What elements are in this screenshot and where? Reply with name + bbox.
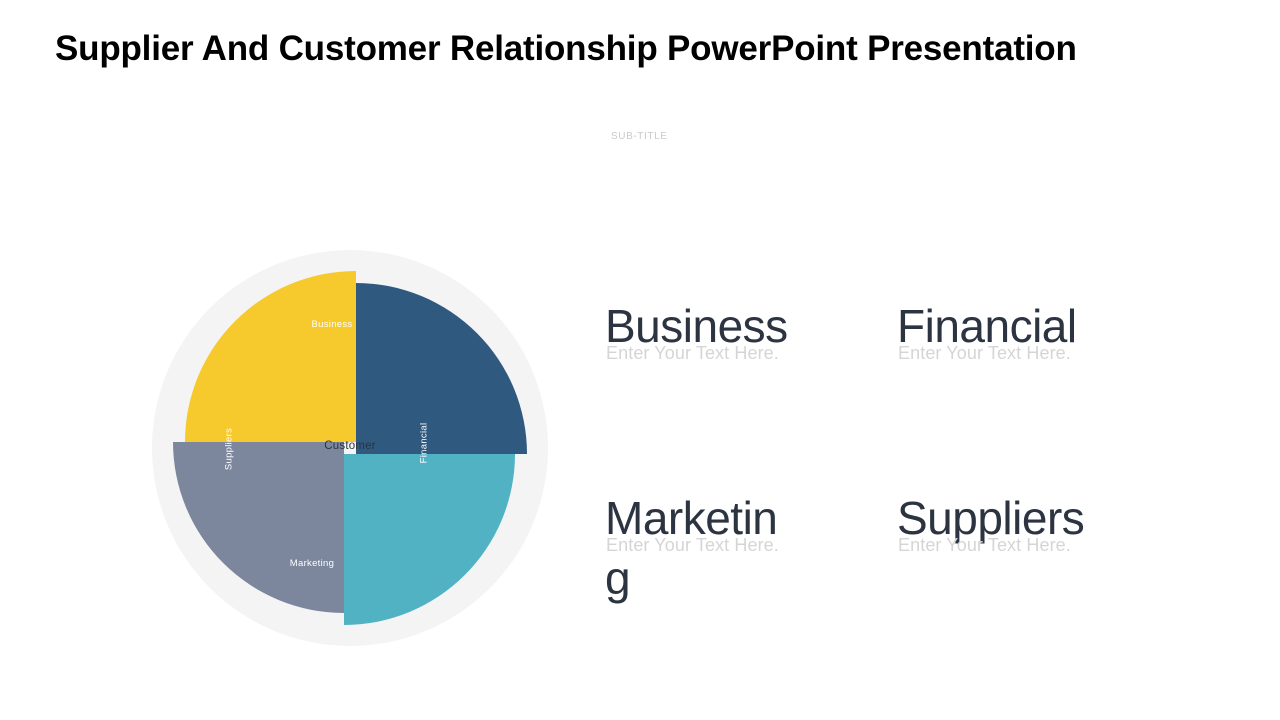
content-block-financial: Financial Enter Your Text Here.	[897, 296, 1089, 466]
segment-business[interactable]	[185, 271, 356, 442]
sub-title: SUB-TITLE	[611, 131, 668, 142]
segment-financial[interactable]	[356, 283, 527, 454]
segment-suppliers[interactable]	[173, 442, 344, 613]
relationship-wheel-diagram: Business Financial Marketing Suppliers C…	[152, 250, 548, 646]
content-block-business: Business Enter Your Text Here.	[605, 296, 797, 466]
content-block-marketing: Marketing Enter Your Text Here.	[605, 488, 797, 658]
segment-marketing[interactable]	[344, 454, 515, 625]
page-title: Supplier And Customer Relationship Power…	[55, 29, 1235, 69]
content-blocks: Business Enter Your Text Here. Financial…	[605, 296, 1245, 656]
block-placeholder-marketing[interactable]: Enter Your Text Here.	[606, 534, 866, 556]
block-placeholder-financial[interactable]: Enter Your Text Here.	[898, 342, 1158, 364]
block-placeholder-suppliers[interactable]: Enter Your Text Here.	[898, 534, 1158, 556]
content-block-suppliers: Suppliers Enter Your Text Here.	[897, 488, 1089, 658]
diagram-center-label: Customer	[300, 440, 400, 452]
block-placeholder-business[interactable]: Enter Your Text Here.	[606, 342, 866, 364]
